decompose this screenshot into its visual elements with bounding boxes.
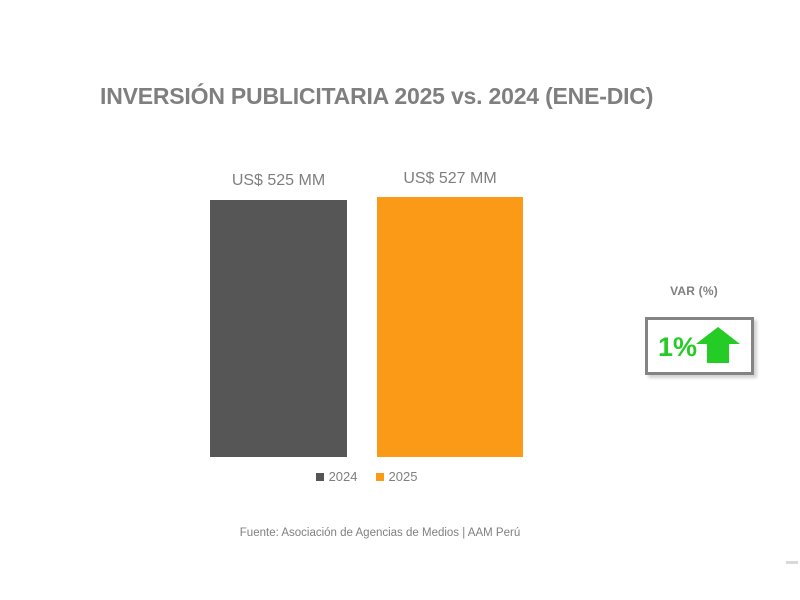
variation-panel: VAR (%) 1%	[640, 284, 755, 298]
slide-canvas: INVERSIÓN PUBLICITARIA 2025 vs. 2024 (EN…	[0, 0, 800, 600]
legend-swatch-icon-2025	[376, 473, 384, 481]
legend-label-2025: 2025	[389, 470, 418, 483]
page-artifact	[786, 561, 798, 564]
variation-caption: VAR (%)	[640, 284, 748, 298]
bar-2024[interactable]	[210, 200, 347, 457]
variation-value: 1%	[658, 334, 697, 361]
source-note: Fuente: Asociación de Agencias de Medios…	[150, 527, 610, 539]
legend-swatch-icon-2024	[316, 473, 324, 481]
legend-item-2025[interactable]: 2025	[376, 470, 418, 483]
bar-2025[interactable]	[377, 197, 523, 457]
bar-value-label-2024: US$ 525 MM	[210, 172, 347, 190]
legend-item-2024[interactable]: 2024	[316, 470, 358, 483]
variation-box[interactable]: 1%	[645, 317, 754, 375]
arrow-up-icon	[695, 325, 741, 370]
chart-plot-area: US$ 525 MM US$ 527 MM 2024 2025	[0, 0, 800, 600]
legend-label-2024: 2024	[329, 470, 358, 483]
chart-legend: 2024 2025	[210, 470, 523, 483]
bar-value-label-2025: US$ 527 MM	[377, 170, 523, 188]
